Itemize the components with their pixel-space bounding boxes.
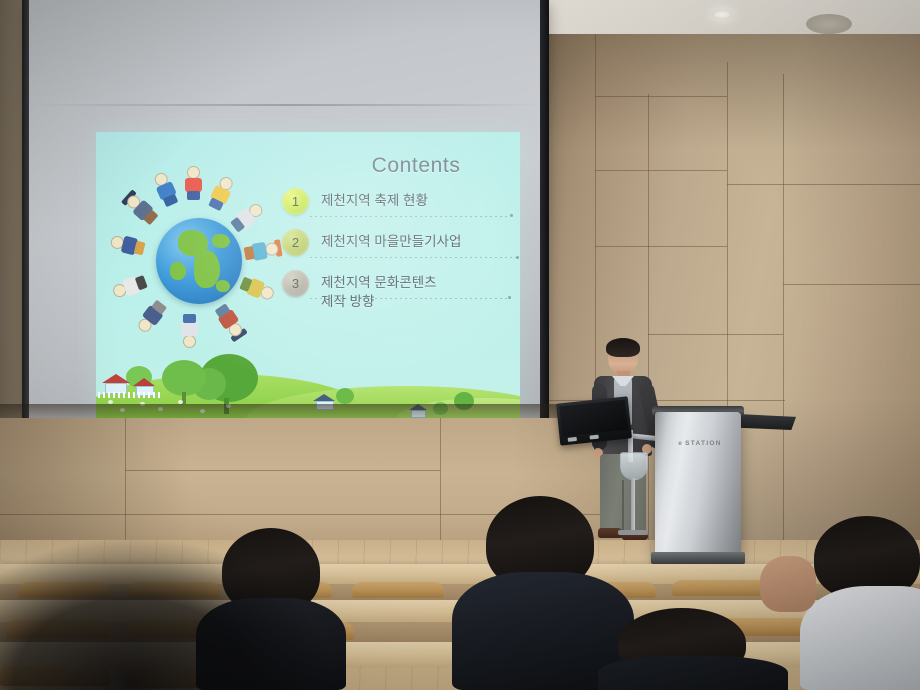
screen-frame-right xyxy=(540,0,549,440)
child-figure xyxy=(108,230,147,261)
foreground-shadow xyxy=(0,540,330,690)
child-figure xyxy=(178,314,201,348)
podium-brand-mark: e xyxy=(678,440,683,447)
ceiling-spotlight xyxy=(712,10,732,19)
contents-item-1: 1 제천지역 축제 현황 xyxy=(282,188,520,215)
child-figure xyxy=(227,197,268,236)
presenter-hair xyxy=(606,338,640,357)
confidence-monitor[interactable] xyxy=(556,396,632,445)
contents-item-label: 제천지역 문화콘텐츠 제작 방향 xyxy=(321,270,437,311)
slide-heading: Contents xyxy=(336,154,496,178)
podium-brand-text: STATION xyxy=(685,440,722,447)
seat-back[interactable] xyxy=(352,582,444,598)
water-glass[interactable] xyxy=(620,452,648,480)
child-figure xyxy=(204,173,240,214)
lecture-hall-scene: Contents 1 제천지역 축제 현황 2 제천지역 마을만들기사업 3 제… xyxy=(0,0,920,690)
audience-member-hand xyxy=(760,556,830,632)
child-figure xyxy=(182,166,205,200)
tree-icon xyxy=(158,360,212,404)
ceiling-vent xyxy=(806,14,852,34)
contents-item-label: 제천지역 축제 현황 xyxy=(321,188,428,210)
contents-number-badge: 2 xyxy=(282,229,309,256)
child-figure xyxy=(148,169,183,209)
screen-seam xyxy=(28,104,546,106)
contents-number-badge: 3 xyxy=(282,270,309,297)
podium-brand-logo: eSTATION xyxy=(672,440,728,447)
presentation-slide: Contents 1 제천지역 축제 현황 2 제천지역 마을만들기사업 3 제… xyxy=(96,132,520,420)
globe-icon xyxy=(156,218,242,304)
contents-item-label: 제천지역 마을만들기사업 xyxy=(321,229,461,251)
child-figure xyxy=(237,272,277,306)
child-figure xyxy=(243,237,280,266)
child-figure xyxy=(132,297,171,338)
house-icon xyxy=(100,374,132,394)
seat-back[interactable] xyxy=(672,580,768,596)
podium[interactable] xyxy=(655,412,741,560)
child-figure xyxy=(110,270,150,303)
child-figure xyxy=(210,300,248,341)
globe-with-children-illustration xyxy=(110,166,286,342)
monitor-screen xyxy=(559,400,628,437)
contents-item-3: 3 제천지역 문화콘텐츠 제작 방향 xyxy=(282,270,520,311)
contents-number-badge: 1 xyxy=(282,188,309,215)
screen-frame-left xyxy=(22,0,29,430)
contents-item-2: 2 제천지역 마을만들기사업 xyxy=(282,229,520,256)
contents-list: 1 제천지역 축제 현황 2 제천지역 마을만들기사업 3 제천지역 문화콘텐츠… xyxy=(282,188,520,325)
